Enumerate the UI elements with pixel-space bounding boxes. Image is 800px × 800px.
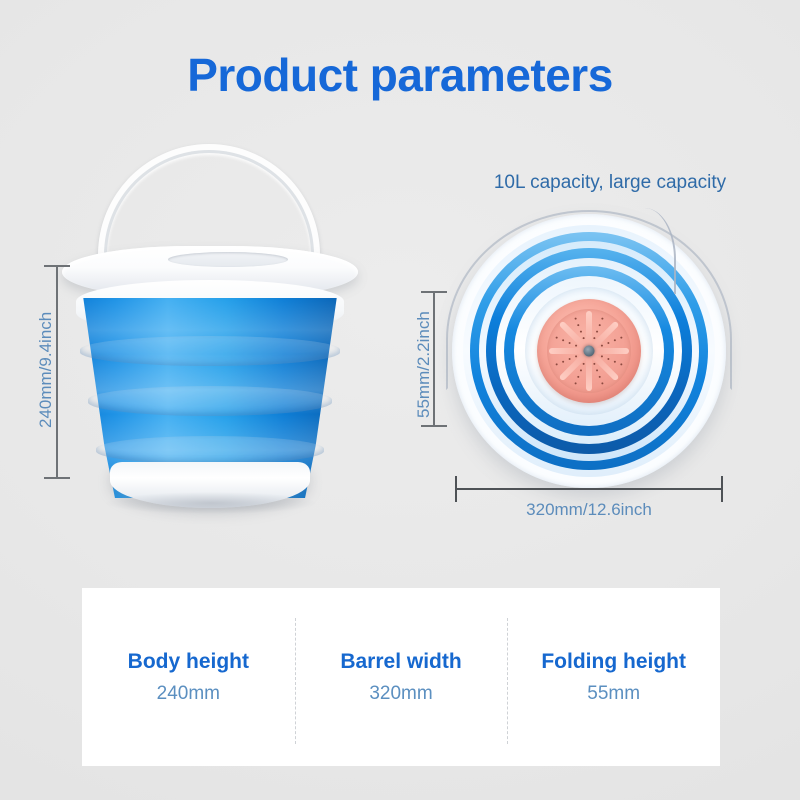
turbine-disc [537,299,641,403]
turbine-vent-dot [577,376,579,378]
product-image-bucket-folded [452,214,726,488]
turbine-vent-dot [575,382,577,384]
spec-panel: Body height 240mm Barrel width 320mm Fol… [82,588,720,766]
turbine-vent-dot [599,376,601,378]
turbine-vent-dot [620,337,622,339]
spec-label: Barrel width [340,650,461,674]
dimension-label-barrel-width: 320mm/12.6inch [456,500,722,520]
dimension-cap-bottom [44,477,70,479]
spec-column-folding-height: Folding height 55mm [507,588,720,766]
dimension-cap-top [44,265,70,267]
spec-value: 55mm [587,683,640,705]
turbine-vent-dot [575,345,577,347]
turbine-vent-dot [599,324,601,326]
turbine-vent-dot [620,363,622,365]
turbine-vent-dot [607,358,609,360]
turbine-vent-dot [580,331,582,333]
turbine-vent-dot [614,361,616,363]
spec-label: Folding height [541,650,686,674]
bucket-fold-ring [96,436,324,464]
turbine-vent-dot [556,363,558,365]
product-parameters-infographic: Product parameters 10L capacity, large c… [0,0,800,800]
turbine-inner-disc [547,309,631,393]
product-image-bucket-open [60,140,360,520]
dimension-cap-right [721,476,723,502]
turbine-vent-dot [556,337,558,339]
turbine-vent-dot [580,369,582,371]
turbine-vent-dot [614,339,616,341]
turbine-vent-dot [601,318,603,320]
spec-column-body-height: Body height 240mm [82,588,295,766]
dimension-cap-top [421,291,447,293]
bucket-drop-shadow [106,492,316,514]
turbine-vent-dot [562,339,564,341]
turbine-vent-dot [601,345,603,347]
turbine-vent-dot [569,342,571,344]
turbine-hub [584,346,595,357]
bucket-fold-ring [88,386,332,416]
turbine-vent-dot [562,361,564,363]
turbine-vent-dot [601,382,603,384]
dimension-line-body-height [56,266,58,478]
turbine-vent-dot [596,331,598,333]
turbine-vent-dot [583,363,585,365]
dimension-label-folding-height: 55mm/2.2inch [414,311,434,418]
dimension-line-barrel-width [456,488,722,490]
turbine-vent-dot [596,369,598,371]
spec-value: 320mm [369,683,432,705]
turbine-vent-dot [601,355,603,357]
page-title: Product parameters [0,48,800,102]
dimension-label-body-height: 240mm/9.4inch [36,312,56,428]
spec-column-barrel-width: Barrel width 320mm [295,588,508,766]
bucket-lid-slot [168,252,288,267]
turbine-vent-dot [569,358,571,360]
turbine-vent-dot [575,355,577,357]
spec-value: 240mm [157,683,220,705]
capacity-note: 10L capacity, large capacity [455,172,765,194]
turbine-vent-dot [583,337,585,339]
bucket-fold-ring [80,336,340,366]
turbine-vent-dot [593,363,595,365]
turbine-vent-dot [607,342,609,344]
bucket-wire-handle [624,208,676,294]
dimension-cap-left [455,476,457,502]
spec-label: Body height [128,650,249,674]
turbine-vent-dot [575,318,577,320]
turbine-vent-dot [577,324,579,326]
dimension-cap-bottom [421,425,447,427]
